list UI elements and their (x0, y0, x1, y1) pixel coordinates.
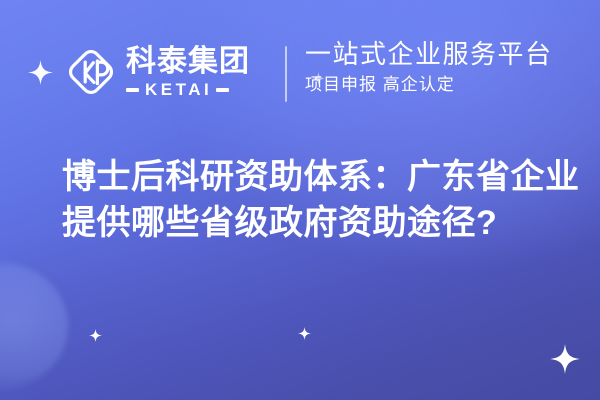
brand-dash-right (216, 88, 229, 92)
ketai-diamond-kp-logo-icon (62, 43, 120, 101)
tagline-main: 一站式企业服务平台 (305, 37, 553, 71)
sparkle-bottom-center (298, 327, 311, 340)
brand-wordmark: 科泰集团 KETAI (126, 46, 274, 99)
page-title-line-2: 提供哪些省级政府资助途径? (62, 200, 562, 246)
header-divider (285, 46, 287, 102)
page-title: 博士后科研资助体系：广东省企业 提供哪些省级政府资助途径? (62, 154, 562, 246)
brand-name-en: KETAI (145, 81, 212, 99)
tagline-block: 一站式企业服务平台 项目申报 高企认定 (305, 37, 553, 98)
brand-lockup: 科泰集团 KETAI (62, 36, 274, 108)
tagline-sub: 项目申报 高企认定 (305, 72, 553, 98)
brand-name-en-row: KETAI (126, 81, 274, 99)
brand-name-cn: 科泰集团 (126, 46, 274, 78)
banner-header: 科泰集团 KETAI 一站式企业服务平台 项目申报 高企认定 (0, 36, 600, 108)
sparkle-bottom-left (89, 329, 102, 342)
sparkle-bottom-right (550, 344, 580, 374)
page-title-line-1: 博士后科研资助体系：广东省企业 (62, 154, 562, 200)
brand-dash-left (126, 88, 139, 92)
promo-banner: 科泰集团 KETAI 一站式企业服务平台 项目申报 高企认定 博士后科研资助体系… (0, 0, 600, 400)
